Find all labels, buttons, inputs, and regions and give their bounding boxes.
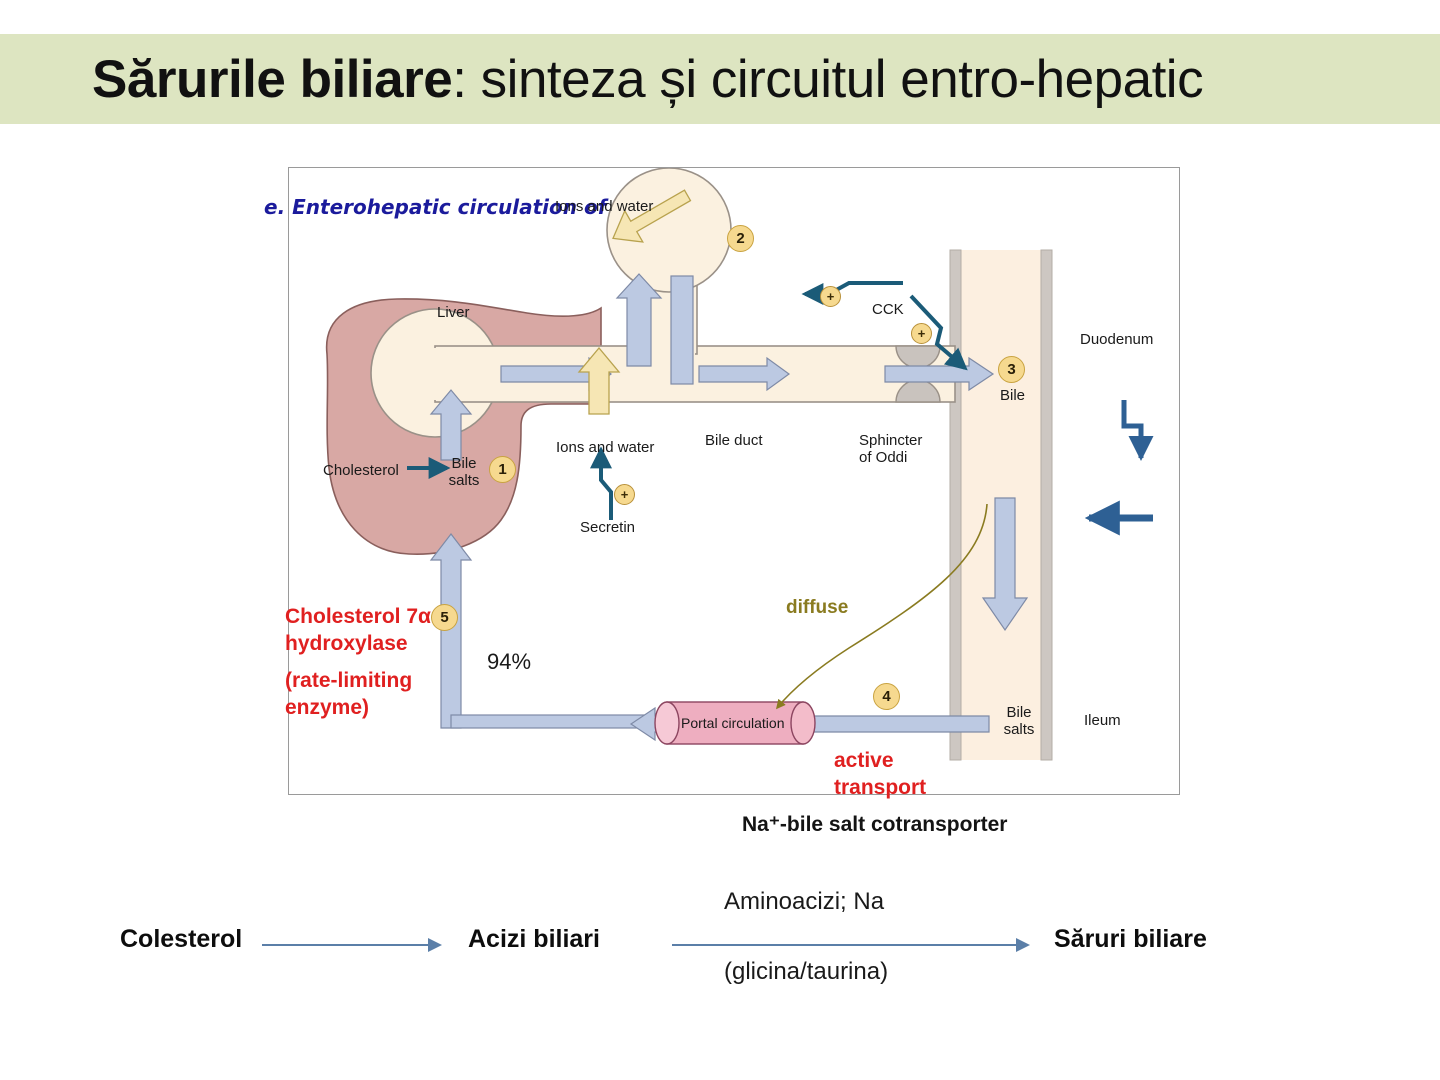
page-title-rest: : sinteza și circuitul entro-hepatic: [452, 50, 1203, 109]
arrow-gallbladder-empty: [671, 276, 693, 384]
label-active-transport-line2: transport: [834, 776, 926, 799]
secretin-arrow: [601, 450, 611, 520]
label-ions-water-duct: Ions and water: [556, 440, 654, 457]
label-bile: Bile: [1000, 388, 1025, 405]
label-percent-recycled: 94%: [487, 649, 531, 675]
label-enzyme-line3: (rate-limiting: [285, 669, 412, 692]
chain-term-bile-acids: Acizi biliari: [468, 925, 600, 954]
label-portal-circulation: Portal circulation: [681, 715, 785, 731]
label-active-transport-line1: active: [834, 749, 894, 772]
page-title: Sărurile biliare: sinteza și circuitul e…: [92, 49, 1203, 110]
label-enzyme-line2: hydroxylase: [285, 632, 408, 655]
label-ileum: Ileum: [1084, 713, 1121, 730]
reaction-chain: Colesterol Acizi biliari Aminoacizi; Na …: [0, 880, 1440, 1020]
caption-cotransporter: Na⁺-bile salt cotransporter: [742, 812, 1007, 837]
label-bile-salts-liver: Bile salts: [441, 456, 487, 490]
label-duodenum: Duodenum: [1080, 332, 1153, 349]
step-marker-2: 2: [727, 225, 754, 252]
label-bile-salts-ileum-line1: Bile: [1006, 704, 1031, 721]
step-marker-5: 5: [431, 604, 458, 631]
label-cck: CCK: [872, 302, 904, 319]
intestine-wall-left: [950, 250, 961, 760]
label-ions-water-gallbladder: Ions and water: [555, 199, 653, 216]
chain-term-bile-salts: Săruri biliare: [1054, 925, 1207, 954]
chain-note-above: Aminoacizi; Na: [724, 888, 884, 916]
page-title-bold: Sărurile biliare: [92, 50, 452, 109]
label-rate-limiting-enzyme: Cholesterol 7α hydroxylase (rate-limitin…: [285, 604, 431, 722]
slide-title-banner: Sărurile biliare: sinteza și circuitul e…: [0, 34, 1440, 124]
chain-arrow-2: [672, 932, 1042, 958]
label-bile-salts-ileum: Bile salts: [996, 705, 1042, 739]
plus-badge-secretin: +: [614, 484, 635, 505]
step-marker-4: 4: [873, 683, 900, 710]
label-bile-duct: Bile duct: [705, 433, 763, 450]
label-bile-salts-liver-line2: salts: [449, 472, 480, 489]
chain-note-below: (glicina/taurina): [724, 958, 888, 986]
plus-badge-cck-gallbladder: +: [820, 286, 841, 307]
arrow-recirculation-up: [431, 534, 471, 728]
label-cholesterol: Cholesterol: [323, 463, 399, 480]
label-active-transport: active transport: [834, 748, 926, 802]
annotation-arrow-down: [1124, 400, 1141, 458]
intestine-wall-right: [1041, 250, 1052, 760]
label-secretin: Secretin: [580, 520, 635, 537]
chain-term-cholesterol: Colesterol: [120, 925, 242, 954]
label-sphincter-line2: of Oddi: [859, 449, 907, 466]
label-bile-salts-ileum-line2: salts: [1004, 721, 1035, 738]
plus-badge-cck-sphincter: +: [911, 323, 932, 344]
step-marker-3: 3: [998, 356, 1025, 383]
figure-panel: e. Enterohepatic circulation of bile sal…: [288, 167, 1180, 795]
label-sphincter-line1: Sphincter: [859, 432, 922, 449]
label-diffuse: diffuse: [786, 597, 848, 619]
label-enzyme-line4: enzyme): [285, 696, 369, 719]
step-marker-1: 1: [489, 456, 516, 483]
label-sphincter-of-oddi: Sphincter of Oddi: [859, 433, 922, 467]
label-enzyme-line1: Cholesterol 7α: [285, 605, 431, 628]
chain-arrow-1: [262, 932, 452, 958]
label-bile-salts-liver-line1: Bile: [451, 455, 476, 472]
label-liver: Liver: [437, 305, 470, 322]
